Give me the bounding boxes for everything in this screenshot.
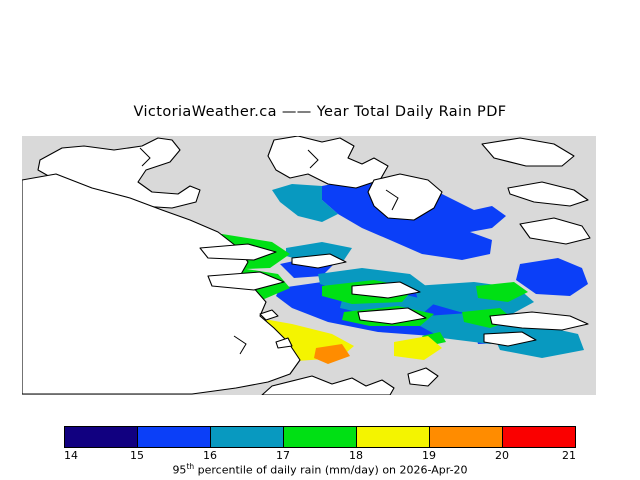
colorbar-tick-18: 18 [349,449,363,462]
map-panel [22,136,596,395]
colorbar-tick-20: 20 [495,449,509,462]
colorbar-tick-21: 21 [562,449,576,462]
map-canvas [22,136,596,395]
colorbar-tick-17: 17 [276,449,290,462]
colorbar-segment-16-17 [211,427,284,447]
colorbar-segment-19-20 [430,427,503,447]
colorbar-segment-15-16 [138,427,211,447]
colorbar-segment-18-19 [357,427,430,447]
colorbar-tick-15: 15 [130,449,144,462]
colorbar-segment-14-15 [65,427,138,447]
colorbar-tick-19: 19 [422,449,436,462]
caption-suffix: percentile of daily rain (mm/day) on 202… [194,464,467,477]
colorbar-caption: 95th percentile of daily rain (mm/day) o… [0,462,640,477]
colorbar-segment-17-18 [284,427,357,447]
colorbar [64,426,576,448]
weather-map-figure: VictoriaWeather.ca —— Year Total Daily R… [0,0,640,480]
colorbar-segment-20-21 [503,427,575,447]
caption-prefix: 95 [172,464,186,477]
colorbar-tick-labels: 14 15 16 17 18 19 20 21 [0,449,640,463]
page-title: VictoriaWeather.ca —— Year Total Daily R… [0,104,640,120]
colorbar-tick-16: 16 [203,449,217,462]
colorbar-tick-14: 14 [64,449,78,462]
caption-ordinal: th [186,462,194,471]
